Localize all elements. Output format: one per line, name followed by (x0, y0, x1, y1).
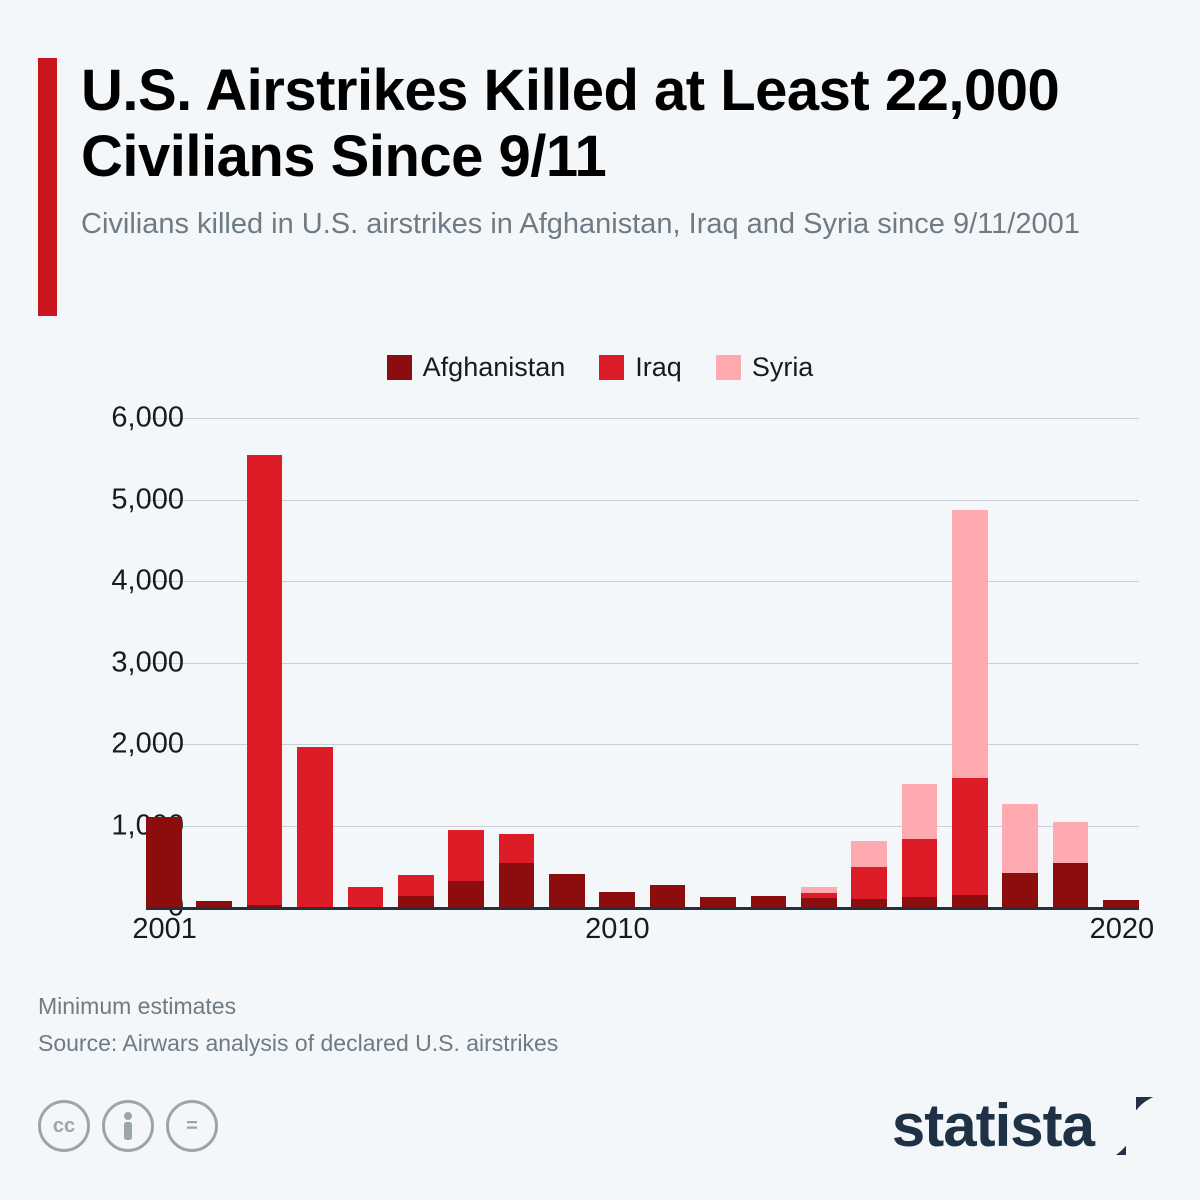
bar-segment-syria-2018 (1002, 804, 1038, 872)
bar-segment-afghanistan-2001 (146, 817, 182, 907)
bar-segment-afghanistan-2018 (1002, 873, 1038, 907)
attribution-icon[interactable] (102, 1100, 154, 1152)
bar-column-2017[interactable] (952, 418, 988, 907)
chart-area: 01,0002,0003,0004,0005,0006,000 20012010… (0, 400, 1200, 960)
legend-swatch-iraq (599, 355, 624, 380)
bar-segment-iraq-2003 (247, 455, 283, 906)
legend-swatch-syria (716, 355, 741, 380)
bar-segment-iraq-2004 (297, 747, 333, 907)
bar-column-2015[interactable] (851, 418, 887, 907)
cc-icon[interactable]: cc (38, 1100, 90, 1152)
legend-item-afghanistan[interactable]: Afghanistan (387, 352, 566, 383)
statista-logo[interactable]: statista (892, 1096, 1160, 1156)
page-subtitle: Civilians killed in U.S. airstrikes in A… (81, 206, 1158, 243)
x-axis-ticks: 200120102020 (146, 913, 1139, 957)
bar-segment-afghanistan-2019 (1053, 863, 1089, 907)
bar-column-2005[interactable] (348, 418, 384, 907)
bar-segment-afghanistan-2010 (599, 892, 635, 907)
footnote-minimum-estimates: Minimum estimates (38, 988, 1168, 1025)
bar-segment-iraq-2015 (851, 867, 887, 899)
bar-segment-iraq-2008 (499, 834, 535, 863)
no-derivatives-icon[interactable]: = (166, 1100, 218, 1152)
x-tick-label-2020: 2020 (1090, 913, 1155, 946)
bar-segment-syria-2017 (952, 510, 988, 778)
bar-segment-iraq-2016 (902, 839, 938, 898)
footnote-source: Source: Airwars analysis of declared U.S… (38, 1025, 1168, 1062)
license-badges: cc = (38, 1100, 218, 1152)
bar-segment-afghanistan-2006 (398, 896, 434, 907)
accent-bar (38, 58, 57, 316)
legend-label-iraq: Iraq (635, 352, 682, 383)
chart-legend: AfghanistanIraqSyria (0, 352, 1200, 383)
bar-column-2012[interactable] (700, 418, 736, 907)
axis-baseline (146, 907, 1139, 910)
bar-segment-iraq-2017 (952, 778, 988, 895)
legend-label-afghanistan: Afghanistan (423, 352, 566, 383)
bar-column-2001[interactable] (146, 418, 182, 907)
bar-segment-syria-2015 (851, 841, 887, 867)
x-tick-label-2001: 2001 (132, 913, 197, 946)
bar-column-2020[interactable] (1103, 418, 1139, 907)
bar-column-2009[interactable] (549, 418, 585, 907)
bar-column-2002[interactable] (196, 418, 232, 907)
bar-column-2008[interactable] (499, 418, 535, 907)
bar-segment-syria-2016 (902, 784, 938, 839)
bar-segment-iraq-2006 (398, 875, 434, 896)
bar-segment-iraq-2007 (448, 830, 484, 881)
bar-segment-afghanistan-2017 (952, 895, 988, 907)
bar-column-2010[interactable] (599, 418, 635, 907)
infographic-root: U.S. Airstrikes Killed at Least 22,000 C… (0, 0, 1200, 1200)
bar-column-2003[interactable] (247, 418, 283, 907)
bar-segment-afghanistan-2009 (549, 874, 585, 907)
bar-segment-afghanistan-2011 (650, 885, 686, 907)
bar-segment-iraq-2005 (348, 887, 384, 907)
legend-item-iraq[interactable]: Iraq (599, 352, 682, 383)
legend-item-syria[interactable]: Syria (716, 352, 814, 383)
bar-segment-afghanistan-2008 (499, 863, 535, 907)
bar-column-2004[interactable] (297, 418, 333, 907)
bar-column-2014[interactable] (801, 418, 837, 907)
bar-column-2016[interactable] (902, 418, 938, 907)
legend-swatch-afghanistan (387, 355, 412, 380)
statista-logomark (1102, 1097, 1160, 1155)
header: U.S. Airstrikes Killed at Least 22,000 C… (38, 58, 1158, 243)
bar-segment-afghanistan-2013 (751, 896, 787, 907)
bar-segment-afghanistan-2012 (700, 897, 736, 907)
page-title: U.S. Airstrikes Killed at Least 22,000 C… (81, 58, 1158, 190)
x-tick-label-2010: 2010 (585, 913, 650, 946)
bar-segment-afghanistan-2016 (902, 897, 938, 907)
bar-column-2018[interactable] (1002, 418, 1038, 907)
bar-segment-afghanistan-2007 (448, 881, 484, 907)
bar-segment-syria-2019 (1053, 822, 1089, 863)
footer: Minimum estimates Source: Airwars analys… (38, 988, 1168, 1063)
bar-segment-afghanistan-2014 (801, 898, 837, 907)
bar-segment-afghanistan-2015 (851, 899, 887, 907)
bar-column-2013[interactable] (751, 418, 787, 907)
bar-column-2011[interactable] (650, 418, 686, 907)
bar-column-2006[interactable] (398, 418, 434, 907)
bar-column-2019[interactable] (1053, 418, 1089, 907)
bar-group (146, 418, 1139, 907)
bar-column-2007[interactable] (448, 418, 484, 907)
statista-wordmark: statista (892, 1096, 1094, 1156)
legend-label-syria: Syria (752, 352, 814, 383)
